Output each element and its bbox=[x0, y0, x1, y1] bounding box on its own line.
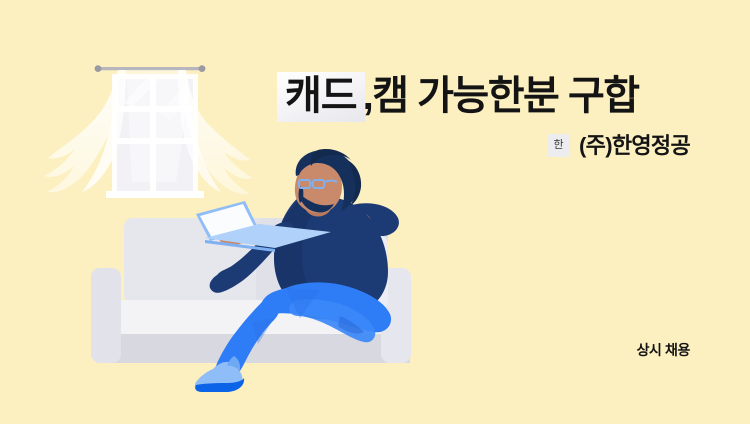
hand-right bbox=[350, 212, 372, 247]
curtain-right bbox=[184, 70, 253, 194]
thigh bbox=[261, 282, 391, 332]
headline-highlight: 캐드 bbox=[277, 72, 365, 122]
headline: 캐드 ,캠 가능한분 구합 bbox=[277, 72, 639, 122]
laptop-base bbox=[205, 224, 331, 248]
arm-left bbox=[210, 222, 294, 293]
company-logo-badge: 한 bbox=[547, 134, 570, 157]
sofa-backrest bbox=[124, 218, 388, 304]
beard bbox=[299, 192, 334, 213]
shoe-upper bbox=[195, 365, 243, 392]
company-name: (주)한영정공 bbox=[579, 135, 690, 157]
sweater-torso bbox=[274, 195, 388, 319]
illustration-man-on-sofa bbox=[0, 0, 750, 424]
head-face bbox=[295, 163, 342, 213]
sofa-seat-cushion bbox=[110, 300, 388, 334]
company-row: 한 (주)한영정공 bbox=[0, 134, 690, 157]
curtain-left bbox=[44, 70, 118, 192]
laptop-screen bbox=[200, 204, 254, 238]
glasses bbox=[299, 180, 337, 188]
hand-left bbox=[218, 225, 249, 245]
curtains bbox=[44, 70, 253, 194]
hair bbox=[296, 150, 358, 211]
headline-rest: ,캠 가능한분 구합 bbox=[363, 76, 639, 122]
sock bbox=[210, 362, 239, 386]
wall-background bbox=[0, 0, 750, 424]
curtain-rod bbox=[95, 65, 206, 72]
shoe-sole bbox=[195, 378, 244, 392]
laptop bbox=[196, 201, 331, 252]
hiring-status-label: 상시 채용 bbox=[0, 340, 690, 360]
job-poster: 캐드 ,캠 가능한분 구합 한 (주)한영정공 상시 채용 bbox=[0, 0, 750, 424]
